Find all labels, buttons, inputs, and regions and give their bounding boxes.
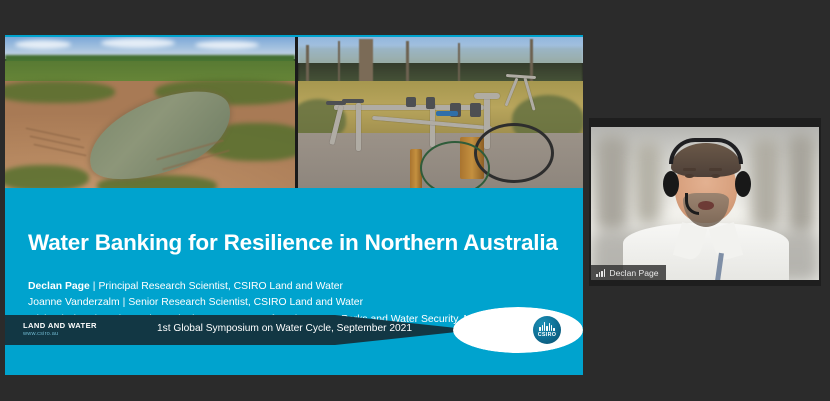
headphone-earcup [735,171,751,197]
photo2-pipe-riser [356,103,361,151]
photo-recharge-basin [5,37,295,188]
signal-bars-icon [596,269,605,277]
video-eye [685,174,694,178]
photo1-cloud [15,40,71,49]
photo2-valve [426,97,435,109]
photo2-valve [406,97,416,107]
presenter-row: Joanne Vanderzalm|Senior Research Scient… [28,295,568,311]
slide-title: Water Banking for Resilience in Northern… [28,231,558,256]
csiro-wordmark: CSIRO [538,332,557,338]
video-bg-shape [751,137,781,229]
video-eyebrow [709,168,722,171]
photo2-valve [470,103,481,117]
photo2-tree-trunk [458,43,460,85]
brand-block: LAND AND WATER www.csiro.au [23,321,97,337]
photo1-cloud [101,38,175,48]
headphone-earcup [663,171,679,197]
presenter-name: Declan Page [28,281,90,292]
photo1-bank-grass [5,81,115,103]
participant-name-chip: Declan Page [591,265,666,280]
photo2-tree-trunk [406,41,409,85]
footer-lens-shape [453,307,583,353]
video-bg-shape [787,133,815,233]
video-bg-shape [635,141,661,225]
video-mouth [698,201,714,210]
video-eyebrow [683,168,696,171]
slide-footer: LAND AND WATER www.csiro.au 1st Global S… [5,315,583,345]
photo2-tree-trunk [530,39,533,87]
presenter-separator: | [90,281,99,292]
headphones-headband-icon [669,138,743,164]
video-eye [711,174,720,178]
screen-root: Water Banking for Resilience in Northern… [0,0,830,401]
shared-slide[interactable]: Water Banking for Resilience in Northern… [5,35,583,375]
participant-name-label: Declan Page [609,268,658,278]
presenter-row: Declan Page|Principal Research Scientist… [28,279,568,295]
slide-photo-strip [5,37,583,188]
photo1-cloud [195,41,259,49]
photo2-hose-coil [420,141,490,188]
event-title: 1st Global Symposium on Water Cycle, Sep… [157,323,412,334]
csiro-logo: CSIRO [533,316,561,344]
participant-video-feed[interactable]: Declan Page [591,127,819,280]
photo2-valve-handle [326,101,346,105]
presenter-role: Principal Research Scientist, CSIRO Land… [99,281,343,292]
brand-division: LAND AND WATER [23,321,97,330]
csiro-bars-icon [539,322,555,331]
photo2-blue-fitting [436,111,458,116]
presenter-name: Joanne Vanderzalm [28,297,120,308]
brand-url: www.csiro.au [23,331,97,337]
presenter-role: Senior Research Scientist, CSIRO Land an… [128,297,363,308]
photo1-bank-grass [5,165,89,188]
photo-bore-wellhead [298,37,583,188]
photo2-pipe-bend [474,93,500,99]
video-bg-shape [595,135,629,231]
